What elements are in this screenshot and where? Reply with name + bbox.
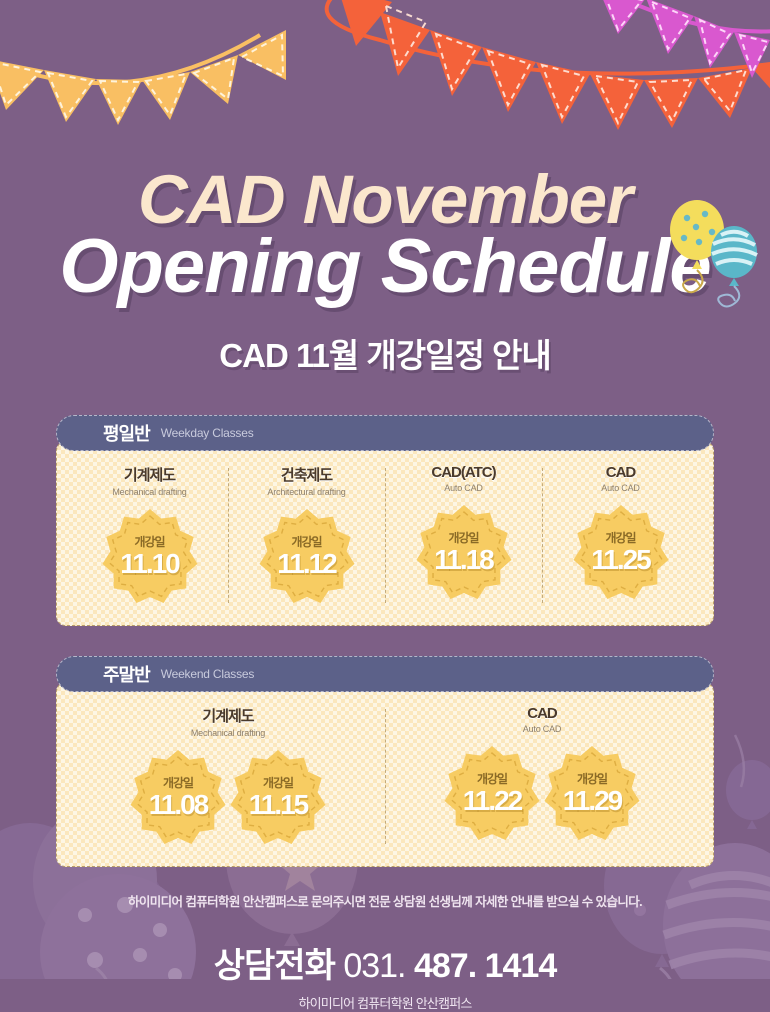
- start-date-badge[interactable]: 개강일11.25: [571, 503, 671, 603]
- badge-date: 11.10: [120, 548, 179, 580]
- course-name-en: Mechanical drafting: [112, 487, 186, 497]
- course-column: 기계제도Mechanical drafting개강일11.08개강일11.15: [71, 705, 385, 848]
- course-column: 건축제도Architectural drafting개강일11.12: [228, 464, 385, 607]
- course-columns: 기계제도Mechanical drafting개강일11.08개강일11.15C…: [71, 705, 699, 848]
- course-columns: 기계제도Mechanical drafting개강일11.10건축제도Archi…: [71, 464, 699, 607]
- start-date-badge[interactable]: 개강일11.18: [414, 503, 514, 603]
- badge-date: 11.08: [149, 789, 208, 821]
- course-name-ko: CAD: [527, 705, 557, 722]
- course-column: CADAuto CAD개강일11.25: [542, 464, 699, 607]
- course-name-ko: 기계제도: [202, 705, 253, 726]
- phone-last: 1414: [485, 947, 557, 985]
- phone-line: 상담전화 031. 487. 1414: [0, 938, 770, 987]
- badge-date: 11.22: [463, 785, 522, 817]
- section-body-weekend: 기계제도Mechanical drafting개강일11.08개강일11.15C…: [56, 682, 714, 867]
- section-header-weekday: 평일반Weekday Classes: [56, 415, 714, 451]
- campus-name: 하이미디어 컴퓨터학원 안산캠퍼스: [0, 993, 770, 1012]
- title-line-2: Opening Schedule: [59, 232, 710, 303]
- course-name-en: Mechanical drafting: [191, 728, 265, 738]
- course-name-ko: 건축제도: [281, 464, 332, 485]
- badge-date: 11.25: [591, 544, 650, 576]
- badge-group: 개강일11.18: [414, 503, 514, 603]
- section-weekend: 주말반Weekend Classes기계제도Mechanical draftin…: [56, 656, 714, 867]
- section-body-weekday: 기계제도Mechanical drafting개강일11.10건축제도Archi…: [56, 441, 714, 626]
- section-weekday: 평일반Weekday Classes기계제도Mechanical draftin…: [56, 415, 714, 626]
- poster-footer: 하이미디어 컴퓨터학원 안산캠퍼스로 문의주시면 전문 상담원 선생님께 자세한…: [0, 891, 770, 1012]
- section-title-en: Weekend Classes: [161, 667, 255, 681]
- badge-date: 11.29: [563, 785, 622, 817]
- badge-group: 개강일11.22개강일11.29: [442, 744, 642, 844]
- start-date-badge[interactable]: 개강일11.08: [128, 748, 228, 848]
- course-name-en: Auto CAD: [444, 483, 482, 493]
- badge-date: 11.18: [434, 544, 493, 576]
- course-name-en: Architectural drafting: [267, 487, 345, 497]
- section-title-en: Weekday Classes: [161, 426, 254, 440]
- poster-subtitle: CAD 11월 개강일정 안내: [0, 329, 770, 377]
- phone-prefix: 031.: [343, 947, 405, 985]
- course-name-en: Auto CAD: [601, 483, 639, 493]
- course-column: 기계제도Mechanical drafting개강일11.10: [71, 464, 228, 607]
- start-date-badge[interactable]: 개강일11.29: [542, 744, 642, 844]
- start-date-badge[interactable]: 개강일11.22: [442, 744, 542, 844]
- course-name-ko: CAD(ATC): [431, 464, 495, 481]
- badge-group: 개강일11.08개강일11.15: [128, 748, 328, 848]
- start-date-badge[interactable]: 개강일11.12: [257, 507, 357, 607]
- title-line-1: CAD November: [59, 168, 710, 232]
- course-column: CADAuto CAD개강일11.22개강일11.29: [385, 705, 699, 848]
- poster-header: CAD November Opening Schedule: [0, 0, 770, 377]
- course-name-en: Auto CAD: [523, 724, 561, 734]
- phone-mid: 487.: [414, 947, 476, 985]
- start-date-badge[interactable]: 개강일11.15: [228, 748, 328, 848]
- course-name-ko: CAD: [606, 464, 636, 481]
- course-column: CAD(ATC)Auto CAD개강일11.18: [385, 464, 542, 607]
- badge-group: 개강일11.10: [100, 507, 200, 607]
- start-date-badge[interactable]: 개강일11.10: [100, 507, 200, 607]
- badge-date: 11.12: [277, 548, 336, 580]
- badge-group: 개강일11.12: [257, 507, 357, 607]
- section-header-weekend: 주말반Weekend Classes: [56, 656, 714, 692]
- course-name-ko: 기계제도: [124, 464, 175, 485]
- section-title-ko: 평일반: [103, 420, 150, 446]
- section-title-ko: 주말반: [103, 661, 150, 687]
- phone-label: 상담전화: [214, 947, 335, 985]
- balloon-pair-icon: [667, 192, 759, 315]
- footer-note: 하이미디어 컴퓨터학원 안산캠퍼스로 문의주시면 전문 상담원 선생님께 자세한…: [0, 891, 770, 910]
- badge-group: 개강일11.25: [571, 503, 671, 603]
- badge-date: 11.15: [249, 789, 308, 821]
